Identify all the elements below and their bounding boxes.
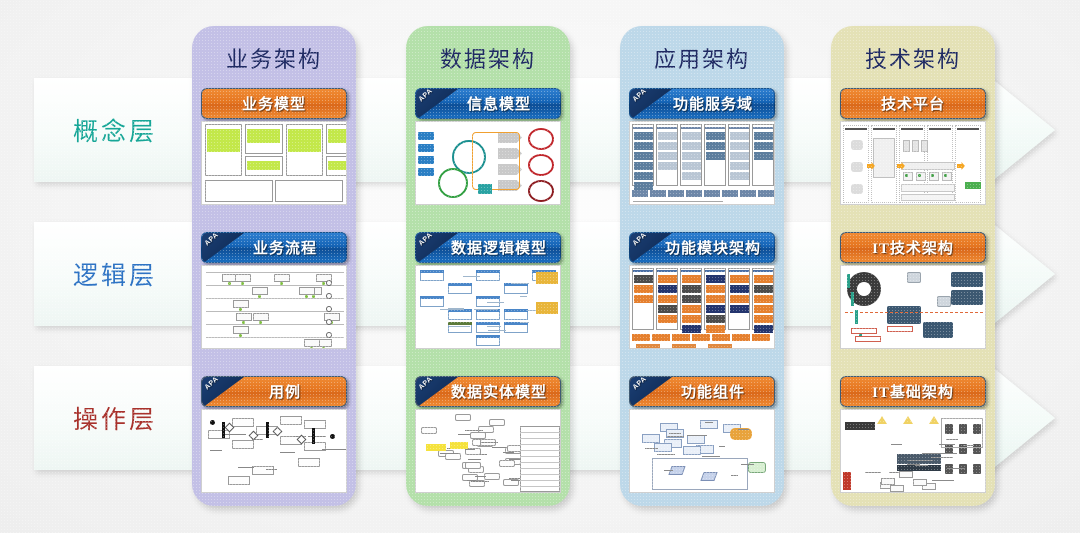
card-banner[interactable]: 技术平台: [840, 88, 986, 119]
card-0[interactable]: 业务模型: [201, 88, 347, 205]
card-4[interactable]: APA数据逻辑模型: [415, 232, 561, 349]
apa-ribbon-icon: APA: [630, 233, 672, 263]
card-thumbnail[interactable]: [629, 121, 775, 205]
card-thumbnail[interactable]: [201, 265, 347, 349]
card-thumbnail[interactable]: [415, 121, 561, 205]
column-title: 应用架构: [620, 42, 784, 74]
card-thumbnail[interactable]: [840, 121, 986, 205]
card-thumbnail[interactable]: [201, 121, 347, 205]
card-thumbnail[interactable]: [415, 409, 561, 493]
card-2[interactable]: APA用例: [201, 376, 347, 493]
apa-ribbon-icon: APA: [416, 89, 458, 119]
card-6[interactable]: APA功能服务域: [629, 88, 775, 205]
row-label-operational: 操作层: [40, 400, 190, 436]
card-9[interactable]: 技术平台: [840, 88, 986, 205]
card-banner[interactable]: 业务模型: [201, 88, 347, 119]
card-banner[interactable]: IT技术架构: [840, 232, 986, 263]
card-3[interactable]: APA信息模型: [415, 88, 561, 205]
card-title: 功能组件: [681, 381, 745, 402]
card-banner[interactable]: APA功能服务域: [629, 88, 775, 119]
card-banner[interactable]: APA数据实体模型: [415, 376, 561, 407]
card-title: 信息模型: [467, 93, 531, 114]
apa-ribbon-icon: APA: [630, 377, 672, 407]
card-thumbnail[interactable]: [629, 265, 775, 349]
card-title: 业务模型: [242, 93, 306, 114]
card-thumbnail[interactable]: [629, 409, 775, 493]
apa-ribbon-icon: APA: [416, 377, 458, 407]
card-title: 数据实体模型: [451, 381, 547, 402]
card-title: 用例: [269, 381, 301, 402]
card-title: 技术平台: [881, 93, 945, 114]
column-title: 业务架构: [192, 42, 356, 74]
card-1[interactable]: APA业务流程: [201, 232, 347, 349]
slide-canvas: 概念层 逻辑层 操作层 业务架构 数据架构 应用架构 技术架构 业务模型APA业…: [0, 0, 1080, 533]
card-banner[interactable]: APA数据逻辑模型: [415, 232, 561, 263]
card-thumbnail[interactable]: [201, 409, 347, 493]
apa-ribbon-icon: APA: [416, 233, 458, 263]
card-thumbnail[interactable]: [840, 265, 986, 349]
card-7[interactable]: APA功能模块架构: [629, 232, 775, 349]
apa-ribbon-icon: APA: [202, 233, 244, 263]
card-banner[interactable]: APA功能组件: [629, 376, 775, 407]
column-title: 数据架构: [406, 42, 570, 74]
card-11[interactable]: IT基础架构: [840, 376, 986, 493]
card-title: 业务流程: [253, 237, 317, 258]
card-thumbnail[interactable]: [840, 409, 986, 493]
apa-ribbon-icon: APA: [202, 377, 244, 407]
card-title: 数据逻辑模型: [451, 237, 547, 258]
card-8[interactable]: APA功能组件: [629, 376, 775, 493]
card-banner[interactable]: APA用例: [201, 376, 347, 407]
card-title: 功能服务域: [673, 93, 753, 114]
row-label-logical: 逻辑层: [40, 256, 190, 292]
card-title: 功能模块架构: [665, 237, 761, 258]
row-label-concept: 概念层: [40, 112, 190, 148]
card-thumbnail[interactable]: [415, 265, 561, 349]
column-title: 技术架构: [831, 42, 995, 74]
card-title: IT基础架构: [872, 381, 954, 402]
card-5[interactable]: APA数据实体模型: [415, 376, 561, 493]
card-banner[interactable]: APA业务流程: [201, 232, 347, 263]
card-10[interactable]: IT技术架构: [840, 232, 986, 349]
card-banner[interactable]: IT基础架构: [840, 376, 986, 407]
card-title: IT技术架构: [872, 237, 954, 258]
apa-ribbon-icon: APA: [630, 89, 672, 119]
card-banner[interactable]: APA功能模块架构: [629, 232, 775, 263]
card-banner[interactable]: APA信息模型: [415, 88, 561, 119]
